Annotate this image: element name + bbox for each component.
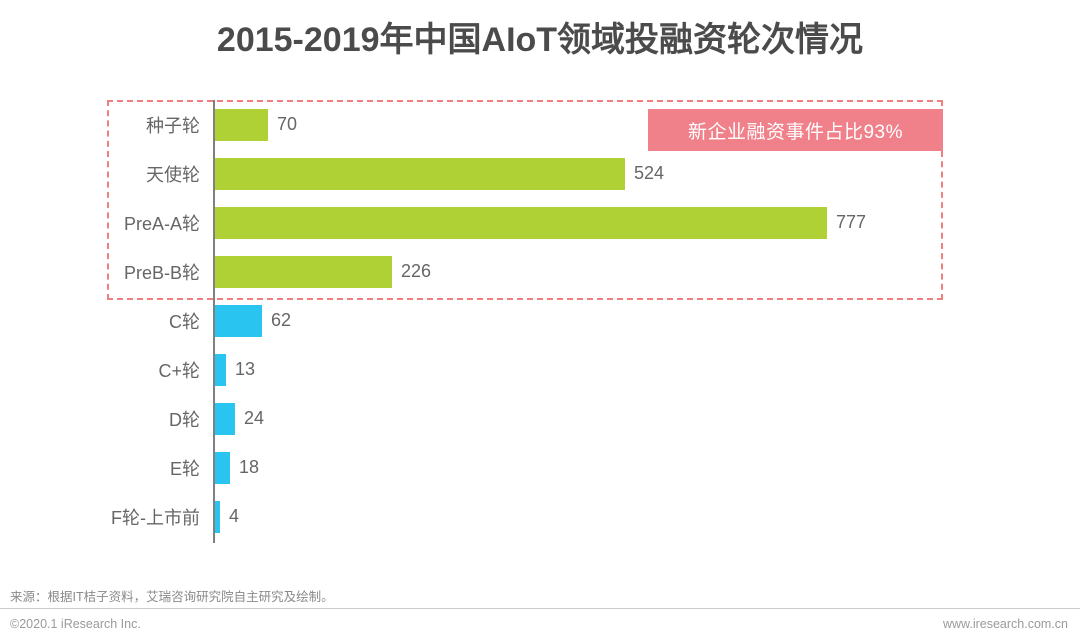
table-row: PreA-A轮 777 bbox=[0, 198, 1080, 247]
bar-value-angel: 524 bbox=[634, 163, 664, 184]
bar-value-e: 18 bbox=[239, 457, 259, 478]
table-row: C+轮 13 bbox=[0, 345, 1080, 394]
bar-track-d: 24 bbox=[215, 394, 264, 443]
bar-d bbox=[215, 403, 235, 435]
footer-divider bbox=[0, 608, 1080, 609]
table-row: PreB-B轮 226 bbox=[0, 247, 1080, 296]
category-label-c-plus: C+轮 bbox=[0, 345, 200, 394]
bar-track-e: 18 bbox=[215, 443, 259, 492]
source-note: 来源：根据IT桔子资料，艾瑞咨询研究院自主研究及绘制。 bbox=[10, 586, 334, 605]
bar-track-prea-a: 777 bbox=[215, 198, 866, 247]
bar-f-pre-ipo bbox=[215, 501, 220, 533]
category-label-f-pre-ipo: F轮-上市前 bbox=[0, 492, 200, 541]
bar-value-c: 62 bbox=[271, 310, 291, 331]
bar-value-f-pre-ipo: 4 bbox=[229, 506, 239, 527]
bar-track-c-plus: 13 bbox=[215, 345, 255, 394]
copyright-text: ©2020.1 iResearch Inc. bbox=[10, 617, 141, 631]
bar-prea-a bbox=[215, 207, 827, 239]
category-label-e: E轮 bbox=[0, 443, 200, 492]
category-label-seed: 种子轮 bbox=[0, 100, 200, 149]
bar-value-seed: 70 bbox=[277, 114, 297, 135]
table-row: E轮 18 bbox=[0, 443, 1080, 492]
table-row: F轮-上市前 4 bbox=[0, 492, 1080, 541]
table-row: 天使轮 524 bbox=[0, 149, 1080, 198]
category-label-preb-b: PreB-B轮 bbox=[0, 247, 200, 296]
bar-track-c: 62 bbox=[215, 296, 291, 345]
page-title: 2015-2019年中国AIoT领域投融资轮次情况 bbox=[0, 12, 1080, 61]
bar-preb-b bbox=[215, 256, 392, 288]
bar-seed bbox=[215, 109, 268, 141]
bar-track-angel: 524 bbox=[215, 149, 664, 198]
bar-value-preb-b: 226 bbox=[401, 261, 431, 282]
bar-track-preb-b: 226 bbox=[215, 247, 431, 296]
category-label-d: D轮 bbox=[0, 394, 200, 443]
chart-plot-area: 新企业融资事件占比93% 种子轮 70 天使轮 524 PreA-A轮 777 … bbox=[0, 95, 1080, 565]
bar-value-prea-a: 777 bbox=[836, 212, 866, 233]
bar-value-c-plus: 13 bbox=[235, 359, 255, 380]
table-row: C轮 62 bbox=[0, 296, 1080, 345]
category-label-angel: 天使轮 bbox=[0, 149, 200, 198]
bar-c bbox=[215, 305, 262, 337]
category-label-prea-a: PreA-A轮 bbox=[0, 198, 200, 247]
bar-c-plus bbox=[215, 354, 226, 386]
bar-e bbox=[215, 452, 230, 484]
website-url: www.iresearch.com.cn bbox=[943, 617, 1068, 631]
table-row: D轮 24 bbox=[0, 394, 1080, 443]
bar-value-d: 24 bbox=[244, 408, 264, 429]
table-row: 种子轮 70 bbox=[0, 100, 1080, 149]
bar-track-f-pre-ipo: 4 bbox=[215, 492, 239, 541]
category-label-c: C轮 bbox=[0, 296, 200, 345]
bar-track-seed: 70 bbox=[215, 100, 297, 149]
bar-angel bbox=[215, 158, 625, 190]
